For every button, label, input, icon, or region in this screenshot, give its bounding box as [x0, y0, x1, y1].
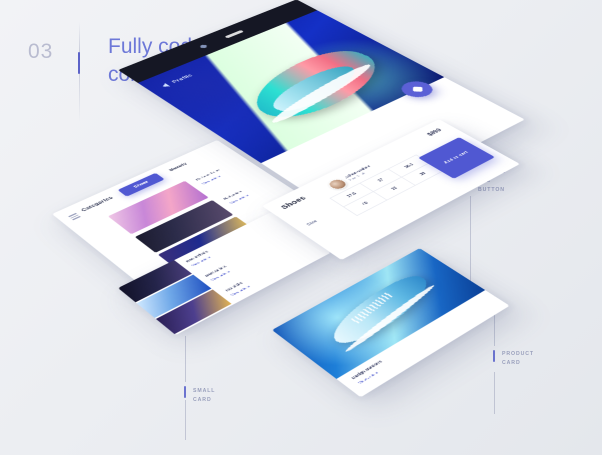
- cart-fab-button[interactable]: [395, 78, 438, 100]
- add-to-cart-label: Add to cart: [443, 151, 470, 165]
- speaker-icon: [224, 30, 243, 38]
- view-article-link[interactable]: View article: [357, 364, 389, 384]
- product-title: Shoes: [279, 195, 308, 211]
- category-tab-beauty[interactable]: Beauty: [168, 162, 188, 172]
- size-label: Size: [306, 220, 319, 227]
- product-price: $899: [426, 128, 444, 137]
- shoe-card-caption: Design sneakers View article: [351, 360, 389, 384]
- shoe-card-title: Design sneakers: [351, 360, 383, 380]
- list-item-image: [156, 289, 232, 334]
- back-nav[interactable]: Profile: [160, 73, 194, 88]
- back-arrow-icon[interactable]: [160, 83, 170, 88]
- sneaker-illustration: [322, 270, 440, 351]
- list-item-title: Top picks: [224, 281, 244, 292]
- mockup-scene: Categories Shoes Beauty Perfume trend Vi…: [0, 0, 602, 455]
- sneaker-sole: [266, 62, 377, 126]
- product-header: Shoes: [279, 195, 308, 211]
- cart-icon: [412, 87, 421, 92]
- canvas: 03 Fully coded variations of components.…: [0, 0, 602, 455]
- category-pill-label: Shoes: [133, 180, 149, 188]
- shoe-card[interactable]: Design sneakers View article: [272, 248, 510, 397]
- shoe-card-image: [272, 248, 485, 379]
- categories-title: Categories: [81, 196, 115, 213]
- camera-icon: [198, 44, 208, 49]
- back-nav-label: Profile: [171, 73, 194, 83]
- hamburger-icon[interactable]: [68, 213, 80, 220]
